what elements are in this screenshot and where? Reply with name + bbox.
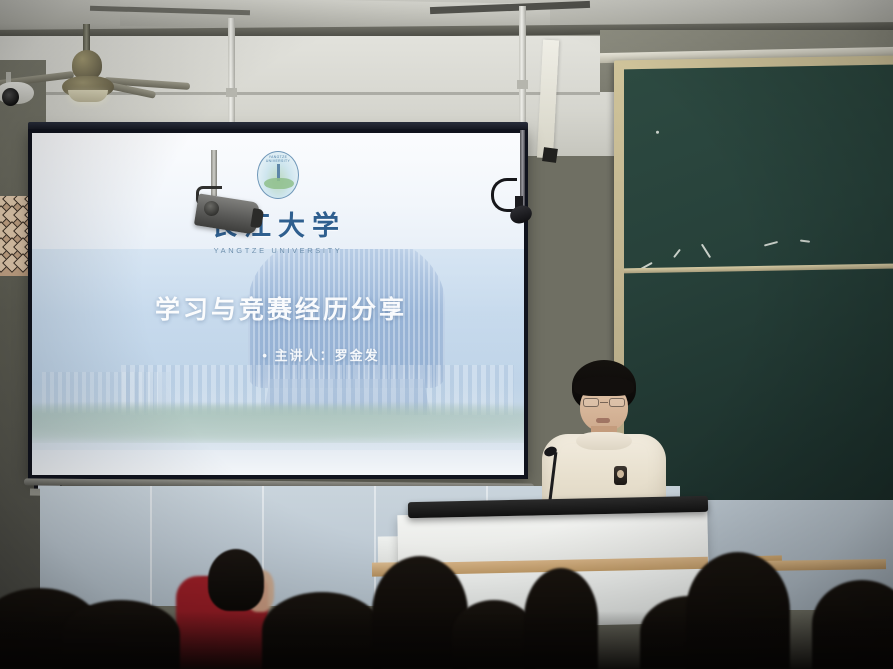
slide-photo-bottom-strip [32, 450, 524, 475]
presenter-fringe [574, 376, 634, 396]
chalk-mark [800, 240, 810, 243]
microphone-cable [491, 178, 517, 212]
glasses-bridge [600, 402, 608, 403]
university-logo: YANGTZE UNIVERSITY 长江大学 YANGTZE UNIVERSI… [32, 151, 524, 255]
university-name-cn: 长江大学 [32, 204, 524, 243]
chalk-mark [701, 244, 711, 259]
glasses-lens-right [609, 398, 625, 407]
university-name-en: YANGTZE UNIVERSITY [32, 246, 524, 255]
presenter-collar [576, 432, 632, 450]
audience-member [62, 600, 180, 669]
slide-title: 学习与竞赛经历分享 [32, 290, 524, 326]
emblem-ring-text: YANGTZE UNIVERSITY [258, 155, 298, 163]
glasses-icon [582, 398, 626, 407]
projection-screen: YANGTZE UNIVERSITY 长江大学 YANGTZE UNIVERSI… [28, 129, 528, 479]
chalk-mark [673, 249, 681, 258]
glasses-lens-left [583, 398, 599, 407]
pole-joint [226, 88, 237, 97]
audience-head [208, 549, 264, 611]
wall-panel-line [374, 486, 376, 606]
screen-support-pole [519, 6, 526, 132]
wall-panel-line [150, 486, 152, 606]
audience-member [686, 552, 790, 669]
university-emblem-icon: YANGTZE UNIVERSITY [257, 151, 299, 199]
presenter-mouth [596, 418, 610, 423]
audience-member [524, 568, 598, 669]
slide-subtitle: • 主讲人：罗金发 [32, 345, 524, 364]
chalk-mark [764, 241, 778, 247]
pole-joint [517, 80, 528, 89]
lecture-hall-scene: YANGTZE UNIVERSITY 长江大学 YANGTZE UNIVERSI… [0, 0, 893, 669]
cctv-lens-icon [2, 88, 19, 106]
chalk-speck [656, 131, 659, 134]
cloth-clip [542, 147, 558, 163]
audience-member [262, 592, 382, 669]
sweater-graphic-patch [614, 466, 627, 485]
fan-light [68, 90, 108, 102]
